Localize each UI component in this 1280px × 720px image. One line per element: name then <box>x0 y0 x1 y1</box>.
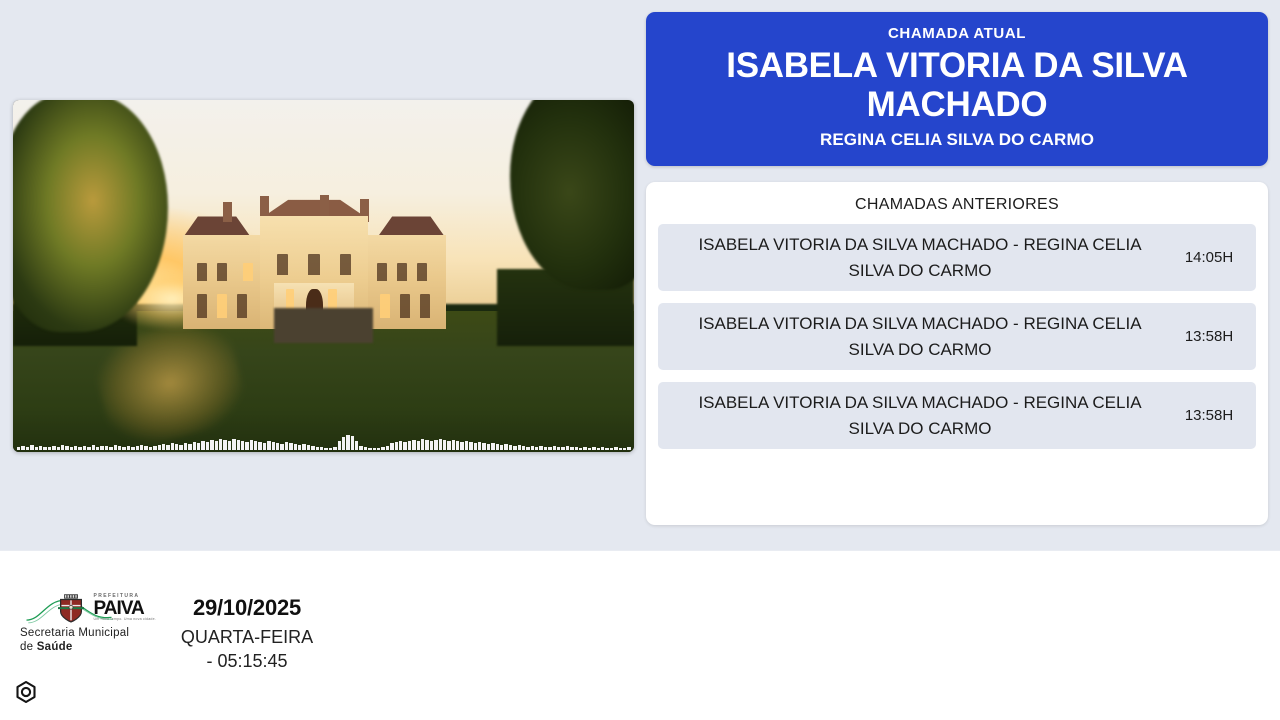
waveform-bar <box>92 445 95 450</box>
waveform-bar <box>381 447 384 450</box>
waveform-bar <box>39 446 42 450</box>
waveform-bar <box>223 440 226 450</box>
waveform-bar <box>575 447 578 450</box>
waveform-bar <box>245 442 248 450</box>
waveform-bar <box>254 441 257 450</box>
datetime-block: 29/10/2025 QUARTA-FEIRA - 05:15:45 <box>176 595 318 674</box>
settings-button[interactable] <box>13 680 39 706</box>
waveform-bar <box>614 447 617 450</box>
chimney <box>223 202 232 222</box>
waveform-bar <box>412 440 415 450</box>
waveform-bar <box>74 446 77 450</box>
waveform-bar <box>228 441 231 450</box>
waveform-bar <box>320 447 323 450</box>
waveform-bar <box>579 448 582 450</box>
waveform-bar <box>399 441 402 450</box>
waveform-bar <box>417 441 420 450</box>
department-line-2-prefix: de <box>20 641 37 653</box>
waveform-bar <box>465 441 468 450</box>
waveform-bar <box>610 448 613 450</box>
waveform-bar <box>153 446 156 450</box>
coat-of-arms-icon <box>58 594 84 624</box>
waveform-bar <box>184 443 187 450</box>
waveform-bar <box>373 448 376 450</box>
waveform-bar <box>583 447 586 450</box>
waveform-bar <box>456 441 459 450</box>
previous-calls-list: ISABELA VITORIA DA SILVA MACHADO - REGIN… <box>658 224 1256 449</box>
waveform-bar <box>175 444 178 450</box>
waveform-bar <box>201 441 204 450</box>
waveform-bar <box>619 448 622 450</box>
previous-call-time: 13:58H <box>1172 407 1246 424</box>
waveform-bar <box>311 446 314 450</box>
waveform-bar <box>43 447 46 450</box>
waveform-bar <box>100 446 103 450</box>
waveform-bar <box>87 447 90 450</box>
waveform-bar <box>513 446 516 450</box>
current-call-label: CHAMADA ATUAL <box>664 25 1250 42</box>
waveform-bar <box>588 448 591 450</box>
waveform-bar <box>333 447 336 450</box>
waveform-bar <box>623 448 626 450</box>
waveform-bar <box>439 439 442 450</box>
waveform-bar <box>452 440 455 450</box>
paiva-word: PAIVA <box>93 599 156 618</box>
main-stage: CHAMADA ATUAL ISABELA VITORIA DA SILVA M… <box>0 0 1280 550</box>
waveform-bar <box>403 442 406 450</box>
previous-call-name: ISABELA VITORIA DA SILVA MACHADO - REGIN… <box>668 232 1172 283</box>
current-weekday-time: QUARTA-FEIRA - 05:15:45 <box>176 625 318 674</box>
waveform-bar <box>482 443 485 450</box>
waveform-bar <box>447 441 450 450</box>
waveform-bar <box>70 447 73 450</box>
waveform-bar <box>289 443 292 450</box>
waveform-bar <box>127 446 130 450</box>
city-health-logo: PREFEITURA PAIVA Um novo tempo. Uma nova… <box>18 593 158 655</box>
waveform-bar <box>346 435 349 450</box>
waveform-bar <box>597 448 600 450</box>
audio-waveform <box>13 428 634 450</box>
waveform-bar <box>280 444 283 450</box>
waveform-bar <box>118 446 121 450</box>
current-date: 29/10/2025 <box>176 595 318 621</box>
waveform-bar <box>548 447 551 450</box>
waveform-bar <box>443 440 446 450</box>
footer-bar: PREFEITURA PAIVA Um novo tempo. Uma nova… <box>0 550 1280 720</box>
waveform-bar <box>605 448 608 450</box>
waveform-bar <box>83 446 86 450</box>
waveform-bar <box>368 448 371 450</box>
waveform-bar <box>188 444 191 450</box>
waveform-bar <box>386 446 389 450</box>
waveform-bar <box>215 441 218 450</box>
waveform-bar <box>26 447 29 450</box>
waveform-bar <box>57 447 60 450</box>
waveform-bar <box>504 444 507 450</box>
waveform-bar <box>48 447 51 450</box>
previous-call-name: ISABELA VITORIA DA SILVA MACHADO - REGIN… <box>668 390 1172 441</box>
waveform-bar <box>21 446 24 450</box>
waveform-bar <box>518 445 521 450</box>
waveform-bar <box>263 443 266 450</box>
previous-call-time: 13:58H <box>1172 328 1246 345</box>
previous-call-row: ISABELA VITORIA DA SILVA MACHADO - REGIN… <box>658 382 1256 449</box>
waveform-bar <box>474 443 477 450</box>
waveform-bar <box>535 447 538 450</box>
waveform-bar <box>491 443 494 450</box>
waveform-bar <box>395 442 398 450</box>
waveform-bar <box>149 447 152 450</box>
waveform-bar <box>61 445 64 450</box>
current-call-professional-name: REGINA CELIA SILVA DO CARMO <box>664 130 1250 150</box>
waveform-bar <box>500 445 503 450</box>
video-frame <box>13 100 634 452</box>
calls-column: CHAMADA ATUAL ISABELA VITORIA DA SILVA M… <box>646 12 1268 525</box>
current-call-banner: CHAMADA ATUAL ISABELA VITORIA DA SILVA M… <box>646 12 1268 166</box>
waveform-bar <box>531 446 534 450</box>
previous-call-time: 14:05H <box>1172 249 1246 266</box>
department-line-1: Secretaria Municipal <box>20 627 129 639</box>
waveform-bar <box>158 445 161 450</box>
waveform-bar <box>425 440 428 450</box>
waveform-bar <box>359 446 362 450</box>
waveform-bar <box>601 447 604 450</box>
waveform-bar <box>430 441 433 450</box>
video-player[interactable] <box>13 100 634 452</box>
waveform-bar <box>434 440 437 450</box>
waveform-bar <box>570 447 573 450</box>
waveform-bar <box>469 442 472 450</box>
previous-call-row: ISABELA VITORIA DA SILVA MACHADO - REGIN… <box>658 303 1256 370</box>
waveform-bar <box>237 440 240 450</box>
waveform-bar <box>566 446 569 450</box>
waveform-bar <box>324 448 327 450</box>
waveform-bar <box>298 445 301 450</box>
waveform-bar <box>338 441 341 450</box>
waveform-bar <box>144 446 147 450</box>
department-name: Secretaria Municipal de Saúde <box>18 626 158 655</box>
waveform-bar <box>250 440 253 450</box>
waveform-bar <box>105 446 108 450</box>
waveform-bar <box>232 439 235 450</box>
waveform-bar <box>171 443 174 450</box>
gear-icon <box>13 680 39 706</box>
waveform-bar <box>166 445 169 450</box>
waveform-bar <box>355 441 358 450</box>
waveform-bar <box>329 448 332 450</box>
waveform-bar <box>197 443 200 450</box>
waveform-bar <box>522 446 525 450</box>
waveform-bar <box>408 441 411 450</box>
previous-calls-title: CHAMADAS ANTERIORES <box>658 196 1256 214</box>
waveform-bar <box>96 447 99 450</box>
waveform-bar <box>109 447 112 450</box>
waveform-bar <box>131 447 134 450</box>
waveform-bar <box>557 447 560 450</box>
waveform-bar <box>478 442 481 450</box>
waveform-bar <box>390 443 393 450</box>
waveform-bar <box>276 443 279 450</box>
waveform-bar <box>342 437 345 450</box>
waveform-bar <box>136 446 139 450</box>
waveform-bar <box>302 444 305 450</box>
waveform-bar <box>351 436 354 450</box>
waveform-bar <box>193 442 196 450</box>
waveform-bar <box>364 447 367 450</box>
waveform-bar <box>460 442 463 450</box>
waveform-bar <box>307 445 310 450</box>
waveform-bar <box>272 442 275 450</box>
waveform-bar <box>627 447 630 450</box>
waveform-bar <box>162 444 165 450</box>
waveform-bar <box>377 448 380 450</box>
waveform-bar <box>496 444 499 450</box>
paiva-tagline: Um novo tempo. Uma nova cidade. <box>93 618 156 622</box>
waveform-bar <box>179 445 182 450</box>
waveform-bar <box>294 444 297 450</box>
waveform-bar <box>267 441 270 450</box>
current-call-patient-name: ISABELA VITORIA DA SILVA MACHADO <box>664 46 1250 124</box>
waveform-bar <box>316 447 319 450</box>
previous-calls-card: CHAMADAS ANTERIORES ISABELA VITORIA DA S… <box>646 182 1268 525</box>
waveform-bar <box>140 445 143 450</box>
waveform-bar <box>206 442 209 450</box>
waveform-bar <box>122 447 125 450</box>
waveform-bar <box>30 445 33 450</box>
waveform-bar <box>258 442 261 450</box>
waveform-bar <box>65 446 68 450</box>
waveform-bar <box>52 446 55 450</box>
waveform-bar <box>210 440 213 450</box>
waveform-bar <box>114 445 117 450</box>
waveform-bar <box>544 447 547 450</box>
waveform-bar <box>35 447 38 450</box>
waveform-bar <box>17 447 20 450</box>
digital-signage-screen: CHAMADA ATUAL ISABELA VITORIA DA SILVA M… <box>0 0 1280 720</box>
waveform-bar <box>561 447 564 450</box>
waveform-bar <box>285 442 288 450</box>
waveform-bar <box>592 447 595 450</box>
previous-call-name: ISABELA VITORIA DA SILVA MACHADO - REGIN… <box>668 311 1172 362</box>
waveform-bar <box>509 445 512 450</box>
waveform-bar <box>78 447 81 450</box>
waveform-bar <box>553 446 556 450</box>
waveform-bar <box>487 444 490 450</box>
waveform-bar <box>539 446 542 450</box>
paiva-wordmark: PREFEITURA PAIVA Um novo tempo. Uma nova… <box>93 594 156 622</box>
department-line-2-bold: Saúde <box>37 641 73 653</box>
waveform-bar <box>219 439 222 450</box>
waveform-bar <box>421 439 424 450</box>
waveform-bar <box>241 441 244 450</box>
garden-path <box>274 308 373 343</box>
previous-call-row: ISABELA VITORIA DA SILVA MACHADO - REGIN… <box>658 224 1256 291</box>
waveform-bar <box>526 447 529 450</box>
